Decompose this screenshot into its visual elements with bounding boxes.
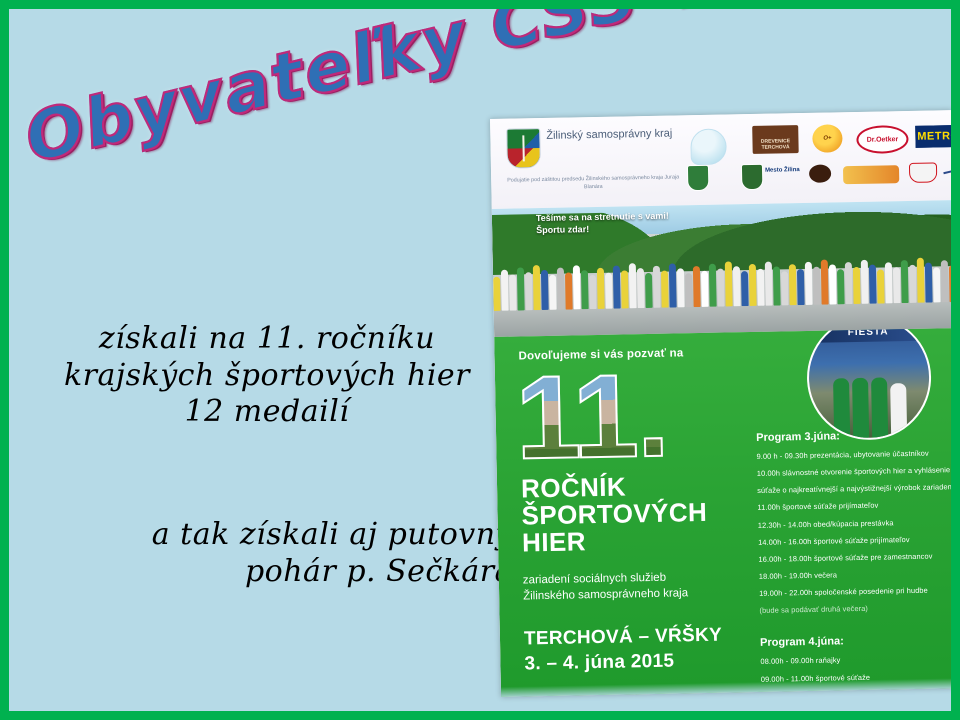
crowd-person bbox=[557, 268, 565, 310]
crowd-person bbox=[821, 260, 829, 305]
sponsor-logo-round-icon bbox=[809, 164, 831, 182]
body-paragraph-2-line-1: a tak získali aj putovný bbox=[43, 517, 513, 554]
crowd-person bbox=[805, 262, 813, 305]
program-day1-list: 9.00 h - 09.30h prezentácia, ubytovanie … bbox=[756, 449, 951, 615]
sponsor-logo-cup-icon bbox=[909, 162, 937, 183]
person-figure bbox=[833, 378, 850, 438]
program-item: (bude sa podávať druhá večera) bbox=[759, 603, 951, 615]
medal-ceremony-circle-photo: FIESTA bbox=[806, 328, 932, 441]
event-name: ROČNÍK ŠPORTOVÝCH HIER bbox=[521, 471, 751, 556]
crowd-person bbox=[621, 270, 629, 308]
crowd-person bbox=[509, 275, 517, 311]
crowd-person bbox=[829, 264, 837, 304]
crowd-person bbox=[541, 270, 549, 310]
municipal-shield-logo-icon bbox=[687, 165, 709, 191]
crowd-person bbox=[717, 269, 725, 307]
crowd-person bbox=[949, 265, 951, 302]
crowd-person bbox=[789, 264, 797, 305]
crowd-person bbox=[661, 271, 669, 308]
body-paragraph-2-line-2: pohár p. Sečkára bbox=[43, 554, 513, 591]
slide-canvas: Obyvateľky CSS TAU získali na 11. ročník… bbox=[9, 9, 951, 711]
crowd-person bbox=[941, 260, 949, 302]
crowd-person bbox=[565, 272, 573, 309]
crowd-person bbox=[693, 266, 701, 307]
crowd-person bbox=[525, 272, 533, 310]
crowd-person bbox=[765, 262, 773, 306]
drevenice-terchova-logo-icon: DREVENICE TERCHOVÁ bbox=[752, 125, 799, 154]
crowd-person bbox=[549, 275, 557, 310]
crowd-person bbox=[877, 269, 885, 303]
crowd-person bbox=[845, 262, 853, 304]
event-poster-image: Žilinský samosprávny kraj Podujatie pod … bbox=[490, 110, 951, 697]
program-item: 9.00 h - 09.30h prezentácia, ubytovanie … bbox=[756, 449, 951, 461]
person-figure bbox=[852, 378, 869, 438]
mesto-zilina-label: Mesto Žilina bbox=[765, 167, 800, 175]
mesto-zilina-shield-icon bbox=[741, 164, 763, 190]
crowd-person bbox=[741, 271, 749, 306]
crowd-person bbox=[893, 267, 901, 303]
crowd-person bbox=[645, 273, 653, 308]
crowd-person bbox=[533, 265, 541, 310]
metro-logo-icon: METRO bbox=[915, 125, 951, 148]
program-item: 08.00h - 09.00h raňajky bbox=[760, 654, 951, 666]
sponsor-logo-swoosh-icon bbox=[943, 162, 951, 181]
crowd-person bbox=[677, 268, 685, 307]
dr-oetker-logo-icon: Dr.Oetker bbox=[856, 125, 909, 154]
person-figure bbox=[871, 377, 888, 437]
body-paragraph-2: a tak získali aj putovný pohár p. Sečkár… bbox=[43, 517, 513, 590]
person-figure bbox=[890, 383, 907, 437]
oplus-logo-icon: O+ bbox=[812, 124, 843, 153]
poster-main-body: Dovoľujeme si vás pozvať na 11. ROČNÍK Š… bbox=[494, 328, 951, 697]
poster-left-column: Dovoľujeme si vás pozvať na 11. ROČNÍK Š… bbox=[494, 332, 753, 697]
program-item: 10.00h slávnostné otvorenie športových h… bbox=[757, 466, 951, 478]
circle-photo-banner-label: FIESTA bbox=[808, 328, 928, 343]
crowd-person bbox=[837, 269, 845, 304]
slide: Obyvateľky CSS TAU získali na 11. ročník… bbox=[0, 0, 960, 720]
program-day2-title: Program 4.júna: bbox=[760, 633, 951, 649]
crowd-person bbox=[685, 273, 693, 307]
crowd-person bbox=[629, 263, 637, 308]
program-item: 19.00h - 22.00h spoločenské posedenie pr… bbox=[759, 586, 951, 598]
crowd-of-participants bbox=[493, 246, 951, 311]
patronage-label: Podujatie pod záštitou predsedu Žilinské… bbox=[503, 173, 683, 193]
crowd-person bbox=[501, 270, 509, 311]
crowd-person bbox=[517, 267, 525, 310]
crowd-person bbox=[917, 258, 925, 303]
crowd-person bbox=[773, 266, 781, 305]
program-item: súťaže o najkreatívnejší a najvýstižnejš… bbox=[757, 483, 951, 495]
poster-right-column: FIESTA Program 3.júna: 9.00 h - 09.30h p… bbox=[746, 328, 951, 692]
crowd-person bbox=[725, 261, 733, 306]
greeting-line-2: Športu zdar! bbox=[536, 222, 669, 237]
crowd-person bbox=[909, 265, 917, 303]
program-item: 16.00h - 18.00h športové súťaže pre zame… bbox=[758, 552, 951, 564]
crowd-person bbox=[749, 264, 757, 306]
crowd-person bbox=[581, 270, 589, 309]
body-paragraph-1: získali na 11. ročníku krajských športov… bbox=[43, 321, 491, 431]
crowd-person bbox=[669, 263, 677, 307]
crowd-person bbox=[637, 268, 645, 308]
crowd-person bbox=[813, 267, 821, 305]
crowd-person bbox=[757, 269, 765, 306]
crowd-person bbox=[781, 271, 789, 305]
crowd-person bbox=[701, 271, 709, 307]
crowd-person bbox=[933, 267, 941, 302]
event-location-block: TERCHOVÁ – VŔŠKY 3. – 4. júna 2015 bbox=[524, 623, 753, 677]
zsk-name-label: Žilinský samosprávny kraj bbox=[546, 128, 672, 144]
crowd-person bbox=[613, 266, 621, 309]
sponsor-logo-bar-icon bbox=[843, 165, 899, 184]
program-item: 09.00h - 11.00h športové súťaže bbox=[761, 672, 951, 684]
greeting-text: Tešíme sa na stretnutie s vami! Športu z… bbox=[536, 210, 669, 237]
event-name-line-3: HIER bbox=[522, 525, 750, 556]
crowd-person bbox=[597, 268, 605, 309]
event-dates: 3. – 4. júna 2015 bbox=[524, 648, 752, 677]
water-drop-logo-icon bbox=[690, 128, 727, 165]
edition-number: 11. bbox=[515, 360, 749, 473]
program-item: 12.30h - 14.00h obed/kúpacia prestávka bbox=[758, 518, 951, 530]
organizer-line-2: Žilinského samosprávneho kraja bbox=[523, 584, 751, 605]
crowd-person bbox=[861, 260, 869, 304]
crowd-person bbox=[605, 273, 613, 309]
crowd-person bbox=[797, 269, 805, 305]
zsk-crest-logo-icon bbox=[506, 128, 541, 169]
venue-line-1: Futbalové ihrisko Terchová bbox=[525, 692, 753, 696]
crowd-person bbox=[589, 275, 597, 309]
crowd-person bbox=[653, 266, 661, 308]
crowd-person bbox=[885, 262, 893, 303]
crowd-person bbox=[853, 267, 861, 304]
crowd-person bbox=[493, 277, 501, 311]
venue-block: Futbalové ihrisko Terchová Rezort Dreven… bbox=[525, 692, 754, 696]
crowd-person bbox=[925, 263, 933, 303]
organizer-text: zariadení sociálnych služieb Žilinského … bbox=[523, 568, 752, 606]
crowd-person bbox=[573, 265, 581, 309]
program-day2-list: 08.00h - 09.00h raňajky09.00h - 11.00h š… bbox=[760, 654, 951, 696]
program-item: 11.30h - 12.00h vyhlásenie výsledkov bbox=[761, 689, 951, 697]
program-item: 14.00h - 16.00h športové súťaže prijímat… bbox=[758, 535, 951, 547]
program-item: 11.00h športové súťaže prijímateľov bbox=[757, 501, 951, 513]
event-location: TERCHOVÁ – VŔŠKY bbox=[524, 623, 752, 652]
crowd-person bbox=[709, 264, 717, 307]
program-item: 18.00h - 19.00h večera bbox=[759, 569, 951, 581]
crowd-person bbox=[901, 260, 909, 303]
crowd-person bbox=[869, 265, 877, 304]
team-in-green-shirts bbox=[809, 353, 931, 439]
crowd-person bbox=[733, 266, 741, 306]
sponsor-logo-strip: Žilinský samosprávny kraj Podujatie pod … bbox=[490, 110, 951, 209]
crowd-panorama-photo: Tešíme sa na stretnutie s vami! Športu z… bbox=[492, 200, 951, 337]
